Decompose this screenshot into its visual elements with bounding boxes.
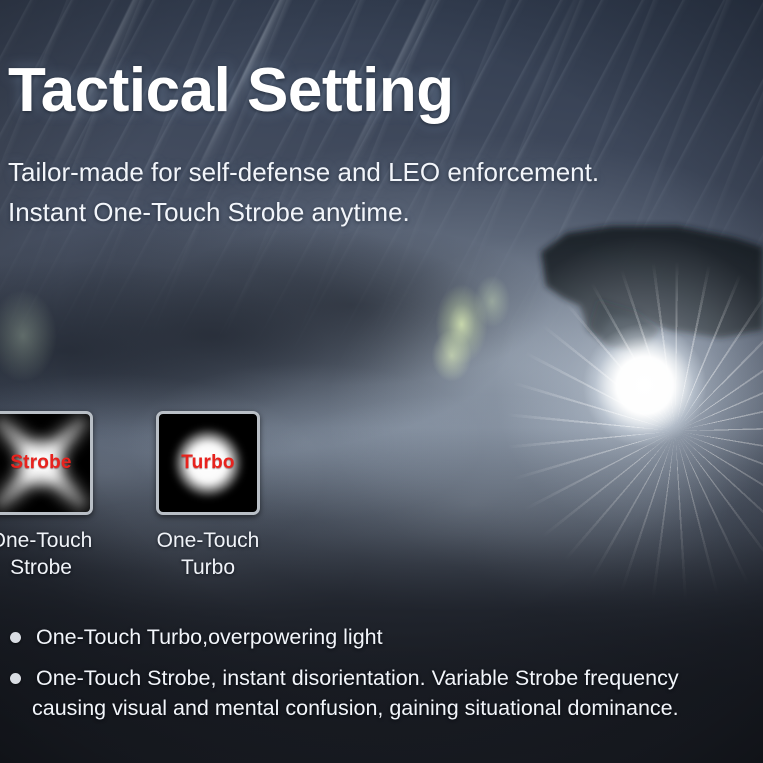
strobe-caption: One-Touch Strobe (0, 527, 106, 581)
list-item: One-Touch Strobe, instant disorientation… (0, 663, 763, 723)
turbo-icon-label: Turbo (159, 414, 257, 512)
strobe-caption-line-2: Strobe (10, 556, 72, 579)
mode-icon-row: Strobe One-Touch Strobe Turbo One-Touch … (0, 411, 763, 591)
mode-tile-strobe[interactable]: Strobe One-Touch Strobe (0, 411, 106, 581)
tactical-setting-slide: Tactical Setting Tailor-made for self-de… (0, 0, 763, 763)
strobe-icon-box[interactable]: Strobe (0, 411, 93, 515)
list-item: One-Touch Turbo,overpowering light (0, 622, 763, 652)
subtitle-line-2: Instant One-Touch Strobe anytime. (8, 192, 599, 232)
turbo-caption: One-Touch Turbo (143, 527, 273, 581)
turbo-caption-line-2: Turbo (181, 556, 235, 579)
strobe-caption-line-1: One-Touch (0, 529, 92, 552)
turbo-icon-box[interactable]: Turbo (156, 411, 260, 515)
feature-bullet-list: One-Touch Turbo,overpowering light One-T… (0, 622, 763, 734)
page-subtitle: Tailor-made for self-defense and LEO enf… (8, 152, 599, 232)
bullet-1-line-1: One-Touch Turbo,overpowering light (36, 625, 383, 649)
turbo-caption-line-1: One-Touch (157, 529, 260, 552)
bullet-2-line-2: causing visual and mental confusion, gai… (32, 693, 763, 723)
mode-tile-turbo[interactable]: Turbo One-Touch Turbo (143, 411, 273, 581)
strobe-icon-label: Strobe (0, 414, 90, 512)
bullet-2-line-1: One-Touch Strobe, instant disorientation… (36, 666, 679, 690)
subtitle-line-1: Tailor-made for self-defense and LEO enf… (8, 152, 599, 192)
page-title: Tactical Setting (8, 60, 454, 122)
